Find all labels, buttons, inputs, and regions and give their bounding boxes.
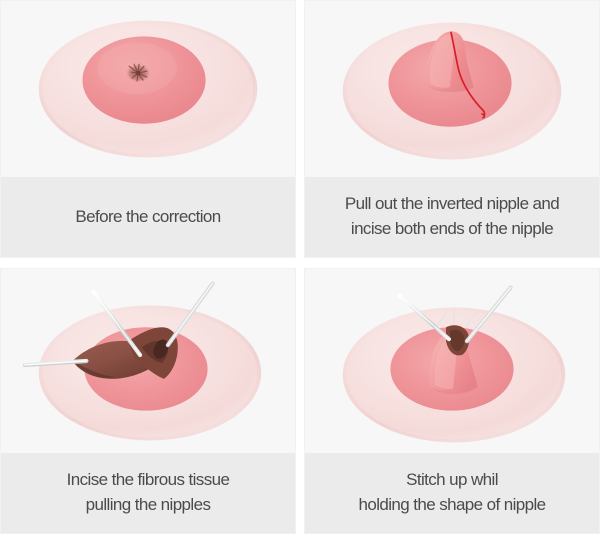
inverted-nipple-crease [126, 64, 150, 82]
step-caption-1: Before the correction [1, 177, 295, 257]
step-panel-1: Before the correction [0, 0, 296, 258]
inverted-nipple-illustration [1, 1, 295, 177]
step-caption-text-2: Pull out the inverted nipple and incise … [345, 192, 559, 241]
step-caption-text-3: Incise the fibrous tissue pulling the ni… [67, 468, 230, 517]
stitched-nipple-illustration [305, 269, 599, 453]
pulled-out-nipple-incision-illustration [305, 1, 599, 177]
step-caption-2: Pull out the inverted nipple and incise … [305, 177, 599, 257]
step-caption-text-4: Stitch up whil holding the shape of nipp… [358, 468, 545, 517]
step-panel-2: Pull out the inverted nipple and incise … [304, 0, 600, 258]
step-panel-4: Stitch up whil holding the shape of nipp… [304, 268, 600, 534]
step-caption-text-1: Before the correction [75, 205, 220, 230]
step-panel-3: Incise the fibrous tissue pulling the ni… [0, 268, 296, 534]
procedure-steps-grid: Before the correction [0, 0, 600, 534]
step-caption-4: Stitch up whil holding the shape of nipp… [305, 453, 599, 533]
fibrous-tissue-incision-illustration [1, 269, 295, 453]
step-caption-3: Incise the fibrous tissue pulling the ni… [1, 453, 295, 533]
